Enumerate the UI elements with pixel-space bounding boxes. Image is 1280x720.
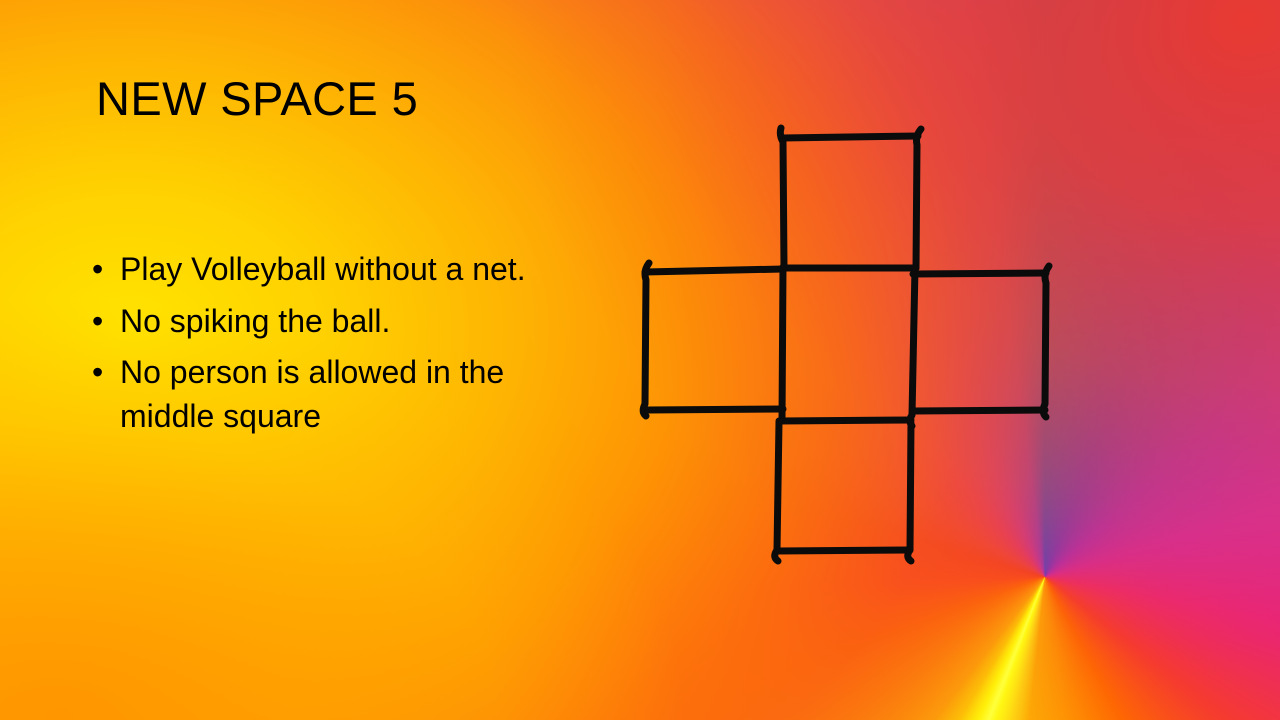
right-square-right-edge <box>1043 266 1049 417</box>
left-square-bottom-edge <box>648 409 783 410</box>
bottom-square-right-edge <box>908 423 911 561</box>
top-square-right-edge <box>916 129 921 268</box>
bottom-square-bottom-edge <box>777 550 910 551</box>
right-square-top-edge <box>913 273 1046 274</box>
right-square-bottom-edge <box>913 410 1045 411</box>
left-square-top-edge <box>645 269 783 272</box>
top-square-left-edge <box>780 128 784 267</box>
bottom-square-left-edge <box>775 422 779 561</box>
left-square-left-edge <box>643 263 649 416</box>
middle-square-right-edge <box>910 268 915 426</box>
top-square-top-edge <box>782 136 918 138</box>
middle-square-left-edge <box>782 267 783 421</box>
slide-canvas: NEW SPACE 5 • Play Volleyball without a … <box>0 0 1280 720</box>
middle-square-bottom-edge <box>779 420 911 421</box>
cross-of-five-squares-drawing <box>0 0 1280 720</box>
